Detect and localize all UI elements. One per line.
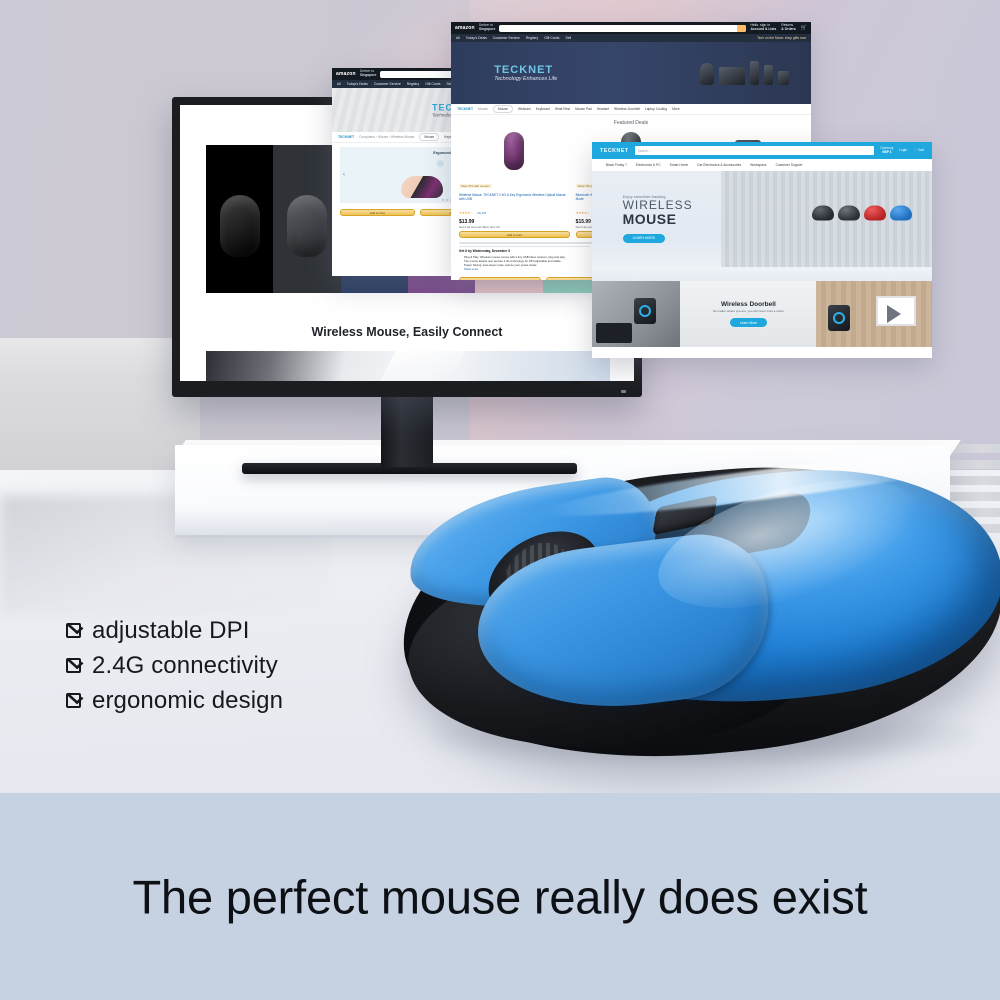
product-mouse: [392, 452, 1000, 782]
menu-item-workspace[interactable]: Workspace: [750, 163, 766, 167]
review-count[interactable]: 10,147: [477, 211, 486, 215]
hero-copy: Enjoy smoother tracking WIRELESS MOUSE L…: [623, 194, 693, 244]
feature-list: adjustable DPI 2.4G connectivity ergonom…: [66, 617, 396, 722]
product-card[interactable]: Save 5% with coupon Wireless Mouse, TECK…: [459, 128, 570, 238]
mouse-black: [812, 206, 834, 221]
currency-selector[interactable]: Currency GBP £: [880, 147, 893, 155]
delivery-note: Get it as soon as Wed, Nov 20: [459, 225, 570, 229]
menu-item-smart-home[interactable]: Smart Home: [670, 163, 689, 167]
nav-item-registry[interactable]: Registry: [407, 82, 419, 86]
hub-image: [778, 71, 789, 85]
hero-line-2: MOUSE: [623, 212, 693, 227]
store-breadcrumb: Mouse: [478, 107, 488, 111]
nav-item-gift-cards[interactable]: Gift Cards: [544, 36, 559, 40]
amazon-header: amazon Deliver to Singapore Hello, sign …: [451, 22, 811, 34]
amazon-logo[interactable]: amazon: [455, 25, 475, 31]
tecknet-brand-hero: TECKNET Technology Enhances Life: [451, 42, 811, 104]
menu-item-electronics-pc[interactable]: Electronics & PC: [636, 163, 661, 167]
nav-item-todays-deals[interactable]: Today's Deals: [347, 82, 368, 86]
picture-frame-icon: [876, 296, 916, 326]
amazon-nav-items: All Today's Deals Customer Service Regis…: [337, 82, 452, 86]
amazon-nav-items: All Today's Deals Customer Service Regis…: [456, 36, 571, 40]
screen-caption: Wireless Mouse, Easily Connect: [180, 325, 634, 339]
feature-label: adjustable DPI: [92, 617, 250, 645]
swatch-black: [206, 145, 273, 293]
tecknet-logo[interactable]: TECKNET: [600, 148, 629, 154]
tecknet-tagline: Technology Enhances Life: [494, 76, 557, 82]
login-link[interactable]: Login: [899, 149, 907, 153]
nav-item-registry[interactable]: Registry: [526, 36, 538, 40]
deliver-to-country: Singapore: [360, 73, 377, 77]
store-breadcrumb: Computers › Mouse › Wireless Mouse: [359, 135, 414, 139]
charger-image: [764, 65, 773, 85]
nav-item-gift-cards[interactable]: Gift Cards: [425, 82, 440, 86]
menu-item-car-electronics[interactable]: Car Electronics & Accessories: [697, 163, 741, 167]
menu-item-black-friday[interactable]: Black Friday ?: [606, 163, 627, 167]
add-to-cart-button[interactable]: Add to Cart: [459, 231, 570, 238]
store-subnav: TECKNET Mouse Mouse Webcam Keyboard Wris…: [451, 104, 811, 115]
promo-title: Wireless Doorbell: [721, 301, 776, 308]
doorbell-ring-icon: [833, 312, 845, 324]
subnav-headset[interactable]: Headset: [597, 107, 609, 111]
list-item: ergonomic design: [66, 687, 396, 715]
tecknet-logo: TECKNET: [494, 64, 557, 76]
mouse-blue: [890, 206, 912, 221]
checkbox-checked-icon: [66, 693, 83, 710]
menu-item-customer-support[interactable]: Customer Support: [776, 163, 803, 167]
hero-line-1: WIRELESS: [623, 199, 693, 212]
nav-item-customer-service[interactable]: Customer Service: [493, 36, 520, 40]
subnav-wrist-rest[interactable]: Wrist Rest: [555, 107, 570, 111]
coupon-badge: Save 5% with coupon: [459, 184, 492, 188]
nav-item-all[interactable]: All: [337, 82, 341, 86]
store-shelf-divider: [592, 267, 932, 281]
promo-subtitle: No matter where you are, you will never …: [713, 309, 784, 313]
add-to-cart-button[interactable]: Add to Cart: [459, 277, 541, 280]
promo-learn-more-button[interactable]: Learn More: [730, 318, 767, 327]
brand-hero-copy: TECKNET Technology Enhances Life: [494, 64, 557, 82]
doorbell-ring-icon: [639, 305, 651, 317]
laptop-image: [596, 323, 632, 343]
swatch-dark-grey: [273, 145, 340, 293]
product-rating: ★★★★☆ 10,147: [459, 201, 570, 219]
amazon-search-input[interactable]: [499, 25, 746, 32]
subnav-mouse-pad[interactable]: Mouse Pad: [575, 107, 592, 111]
add-to-cart-button[interactable]: Add to Cart: [340, 209, 415, 216]
hero-learn-more-button[interactable]: LEARN MORE: [623, 234, 665, 243]
store-search-input[interactable]: Search...: [635, 146, 875, 155]
store-promo-row[interactable]: Wireless Doorbell No matter where you ar…: [592, 281, 932, 347]
amazon-logo[interactable]: amazon: [336, 71, 356, 77]
mouse-red: [864, 206, 886, 221]
store-brand-chip[interactable]: TECKNET: [338, 135, 354, 139]
store-brand-chip[interactable]: TECKNET: [457, 107, 473, 111]
store-topbar: TECKNET Search... Currency GBP £ Login 🛒…: [592, 142, 932, 159]
subnav-keyboard[interactable]: Keyboard: [536, 107, 550, 111]
subnav-webcam[interactable]: Webcam: [518, 107, 531, 111]
nav-item-customer-service[interactable]: Customer Service: [374, 82, 401, 86]
feature-label: 2.4G connectivity: [92, 652, 278, 680]
promo-cell-right: [816, 281, 932, 347]
subnav-wireless-doorbell[interactable]: Wireless Doorbell: [614, 107, 640, 111]
bottom-banner: The perfect mouse really does exist: [0, 793, 1000, 1000]
mouse-grey: [838, 206, 860, 221]
featured-deals-title: Featured Deals: [451, 115, 811, 128]
subnav-pill-mouse[interactable]: Mouse: [419, 133, 439, 141]
headset-image: [700, 63, 714, 85]
list-item: 2.4G connectivity: [66, 652, 396, 680]
browser-window-tecknet-store[interactable]: TECKNET Search... Currency GBP £ Login 🛒…: [592, 142, 932, 358]
nav-item-todays-deals[interactable]: Today's Deals: [466, 36, 487, 40]
hand-on-mouse-image: [401, 176, 443, 198]
bluetooth-icon: [437, 160, 444, 167]
subnav-pill-mouse[interactable]: Mouse: [493, 105, 513, 113]
checkbox-checked-icon: [66, 623, 83, 640]
amazon-navbar: All Today's Deals Customer Service Regis…: [451, 34, 811, 42]
orders-menu[interactable]: Returns & Orders: [781, 24, 796, 32]
power-led-icon: [621, 390, 626, 393]
carousel-prev-arrow[interactable]: ‹: [343, 172, 345, 178]
list-item: adjustable DPI: [66, 617, 396, 645]
promo-cell-center: Wireless Doorbell No matter where you ar…: [680, 281, 816, 347]
screen-lower-image: [206, 351, 610, 381]
product-image: [459, 128, 570, 174]
cart-icon[interactable]: 🛒: [801, 25, 807, 31]
product-marketing-image: Blue Wireless Mouse, Easily Connect amaz…: [0, 0, 1000, 1000]
promo-cell-left: [592, 281, 680, 347]
deliver-to[interactable]: Deliver to Singapore: [479, 24, 496, 32]
nav-item-sell[interactable]: Sell: [565, 36, 571, 40]
powerbank-image: [750, 61, 759, 85]
hero-mouse-lineup: [812, 206, 912, 221]
subnav-more[interactable]: More: [672, 107, 680, 111]
cart-link[interactable]: 🛒 Cart: [913, 149, 924, 153]
store-hero-banner: Enjoy smoother tracking WIRELESS MOUSE L…: [592, 171, 932, 267]
account-menu[interactable]: Hello, sign in Account & Lists: [750, 24, 776, 32]
nav-promo-text[interactable]: Tech on the Move: shop gifts now: [757, 36, 806, 40]
store-main-menu: Black Friday ? Electronics & PC Smart Ho…: [592, 159, 932, 171]
doorbell-icon: [828, 305, 850, 331]
nav-item-all[interactable]: All: [456, 36, 460, 40]
brand-hero-products: [700, 61, 789, 85]
doorbell-icon: [634, 298, 656, 324]
tagline: The perfect mouse really does exist: [0, 869, 1000, 924]
amazon-header-right: Hello, sign in Account & Lists Returns &…: [750, 24, 807, 32]
feature-label: ergonomic design: [92, 687, 283, 715]
deliver-to[interactable]: Deliver to Singapore: [360, 70, 377, 78]
subnav-laptop-cooling[interactable]: Laptop Cooling: [645, 107, 667, 111]
product-title[interactable]: Wireless Mouse, TECKNET 2.4G 6-Key Ergon…: [459, 193, 570, 201]
speaker-image: [719, 67, 745, 85]
checkbox-checked-icon: [66, 658, 83, 675]
